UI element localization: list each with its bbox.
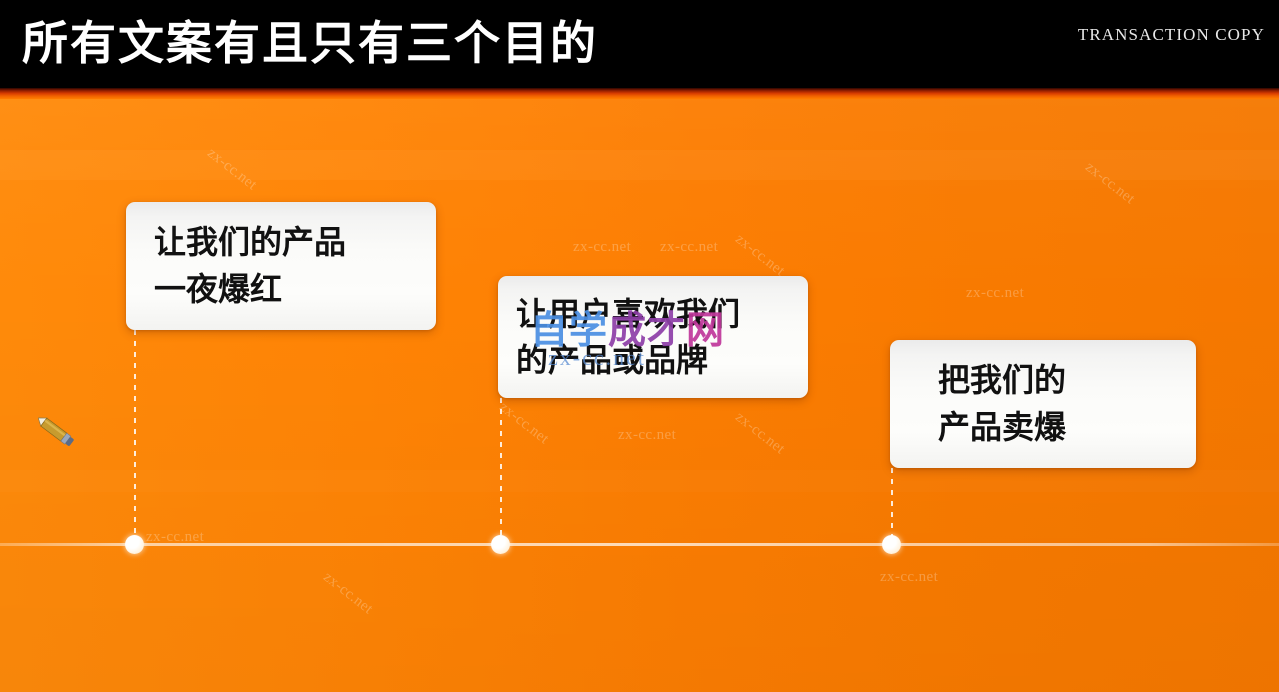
goal-card-1-line-2: 一夜爆红 bbox=[154, 266, 436, 313]
header-bar: 所有文案有且只有三个目的 TRANSACTION COPY bbox=[0, 0, 1279, 88]
connector-line-1 bbox=[134, 330, 136, 544]
goal-card-1-line-1: 让我们的产品 bbox=[154, 219, 436, 266]
page-title: 所有文案有且只有三个目的 bbox=[22, 6, 598, 80]
goal-card-1[interactable]: 让我们的产品 一夜爆红 bbox=[126, 202, 436, 330]
goal-card-2[interactable]: 让用户喜欢我们 的产品或品牌 bbox=[498, 276, 808, 398]
connector-line-3 bbox=[891, 468, 893, 544]
goal-card-2-line-1: 让用户喜欢我们 bbox=[516, 291, 808, 337]
timeline-node-1[interactable] bbox=[125, 535, 144, 554]
goal-card-3-line-2: 产品卖爆 bbox=[938, 404, 1196, 451]
header-badge: TRANSACTION COPY bbox=[1078, 25, 1265, 45]
goal-card-3-line-1: 把我们的 bbox=[938, 357, 1196, 404]
timeline-axis bbox=[0, 543, 1279, 546]
connector-line-2 bbox=[500, 398, 502, 544]
goal-card-2-line-2: 的产品或品牌 bbox=[516, 337, 808, 383]
timeline-node-3[interactable] bbox=[882, 535, 901, 554]
timeline-node-2[interactable] bbox=[491, 535, 510, 554]
goal-card-3[interactable]: 把我们的 产品卖爆 bbox=[890, 340, 1196, 468]
slide-canvas: zx-cc.net zx-cc.net zx-cc.net zx-cc.net … bbox=[0, 0, 1279, 692]
header-accent-rule bbox=[0, 88, 1279, 99]
